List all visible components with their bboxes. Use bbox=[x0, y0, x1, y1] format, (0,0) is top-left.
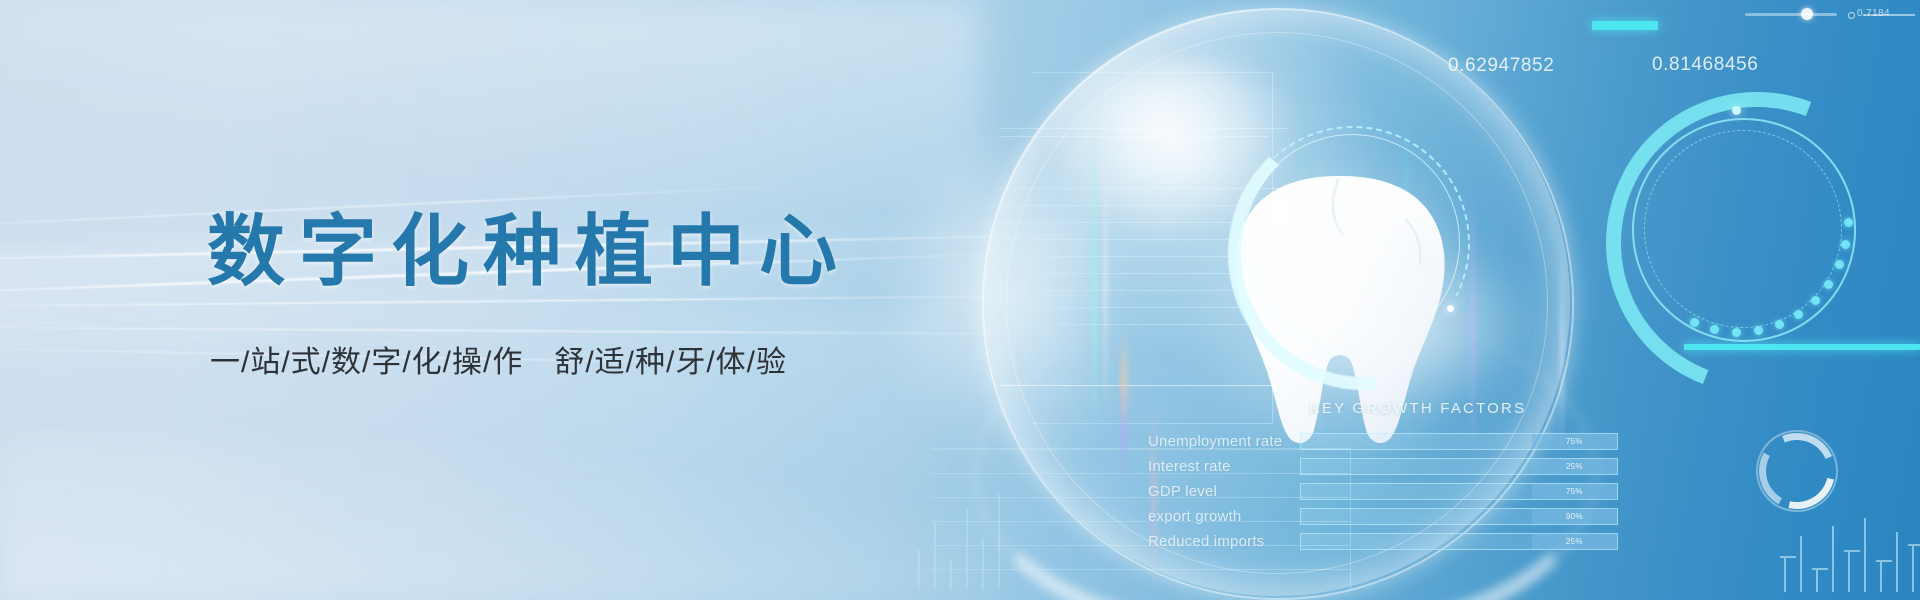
hud-slider-knob[interactable] bbox=[1801, 8, 1813, 20]
key-growth-factors-panel: KEY GROWTH FACTORS Unemployment rate 75%… bbox=[1148, 400, 1618, 556]
light-streak bbox=[1120, 330, 1128, 480]
accent-bar-top bbox=[1592, 21, 1658, 30]
panel-row: Reduced imports 25% bbox=[1148, 531, 1618, 552]
hero-banner: 数字化种植中心 一/站/式/数/字/化/操/作 舒/适/种/牙/体/验 bbox=[0, 0, 1920, 600]
background-wave-band-2 bbox=[0, 290, 942, 511]
panel-title: KEY GROWTH FACTORS bbox=[1218, 400, 1618, 417]
panel-row-bar: 75% bbox=[1300, 433, 1618, 450]
panel-row: export growth 90% bbox=[1148, 506, 1618, 527]
panel-row-bar: 90% bbox=[1300, 508, 1618, 525]
panel-row: Unemployment rate 75% bbox=[1148, 431, 1618, 452]
panel-row-bar: 75% bbox=[1300, 483, 1618, 500]
background-top-sheen bbox=[0, 0, 980, 210]
hud-slider[interactable]: 0.7184 bbox=[1745, 8, 1915, 20]
hud-bar-ticks bbox=[1780, 512, 1920, 592]
readout-value-right: 0.81468456 bbox=[1652, 54, 1758, 76]
light-streak bbox=[1092, 118, 1097, 448]
panel-row-label: Interest rate bbox=[1148, 458, 1300, 475]
panel-row-label: Reduced imports bbox=[1148, 533, 1300, 550]
light-streak bbox=[1104, 160, 1107, 410]
hud-slider-value: 0.7184 bbox=[1857, 8, 1890, 19]
panel-row: GDP level 75% bbox=[1148, 481, 1618, 502]
hud-small-ring-arc bbox=[1745, 419, 1850, 524]
panel-row-bar: 25% bbox=[1300, 533, 1618, 550]
hud-slider-marker-icon bbox=[1848, 12, 1855, 19]
hud-ring-top-dot bbox=[1732, 106, 1741, 115]
panel-row-percent: 25% bbox=[1566, 462, 1583, 471]
banner-title: 数字化种植中心 bbox=[207, 212, 851, 290]
hud-ring bbox=[1600, 92, 1880, 372]
scan-ring-marker-dot bbox=[1447, 305, 1454, 312]
panel-row-percent: 75% bbox=[1566, 487, 1583, 496]
hud-slider-track[interactable] bbox=[1745, 13, 1837, 16]
panel-row-bar: 25% bbox=[1300, 458, 1618, 475]
banner-subtitle: 一/站/式/数/字/化/操/作 舒/适/种/牙/体/验 bbox=[210, 348, 787, 378]
hud-stage: KEY GROWTH FACTORS Unemployment rate 75%… bbox=[1000, 0, 1920, 600]
panel-row-percent: 25% bbox=[1566, 537, 1583, 546]
panel-row: Interest rate 25% bbox=[1148, 456, 1618, 477]
panel-row-percent: 75% bbox=[1566, 437, 1583, 446]
panel-row-label: export growth bbox=[1148, 508, 1300, 525]
readout-value-left: 0.62947852 bbox=[1448, 55, 1554, 77]
hud-small-ring bbox=[1756, 430, 1838, 512]
panel-row-label: Unemployment rate bbox=[1148, 433, 1300, 450]
panel-row-percent: 90% bbox=[1566, 512, 1583, 521]
panel-row-label: GDP level bbox=[1148, 483, 1300, 500]
